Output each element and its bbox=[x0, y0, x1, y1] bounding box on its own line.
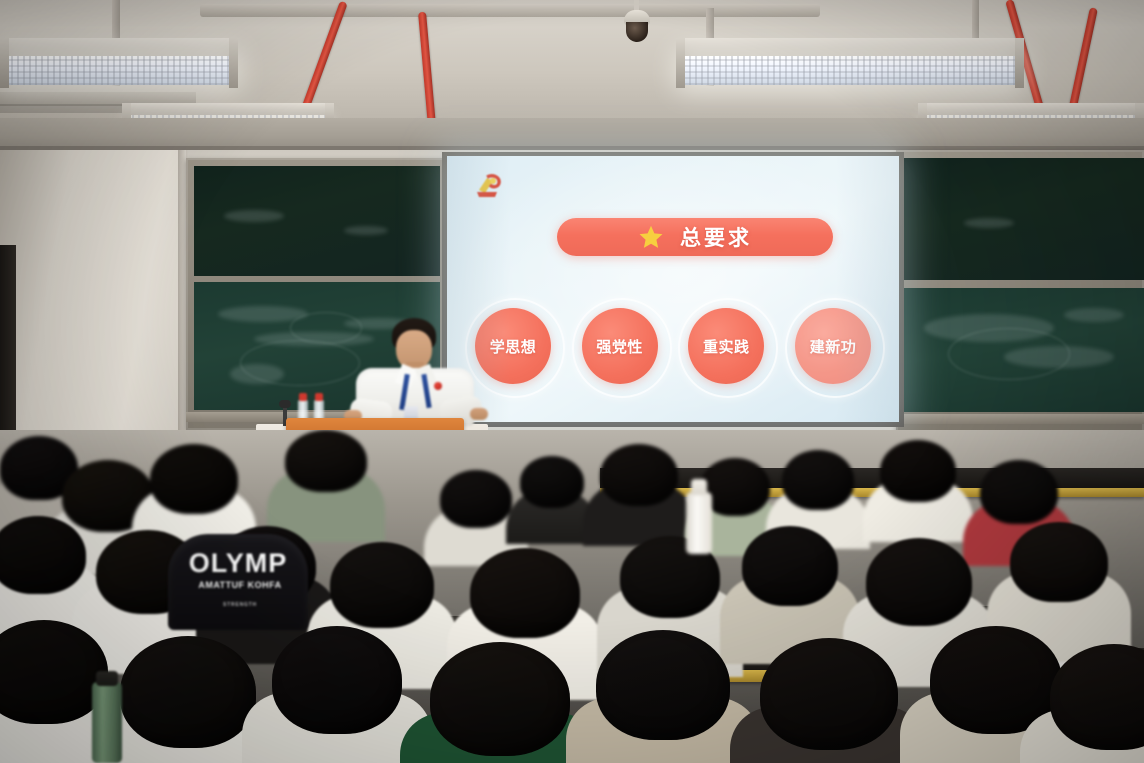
student-head bbox=[150, 444, 238, 514]
audience-student bbox=[596, 630, 730, 740]
green-water-bottle bbox=[92, 682, 122, 763]
audience-student bbox=[742, 526, 838, 606]
student-head bbox=[0, 516, 86, 594]
audience-student bbox=[980, 460, 1058, 524]
audience-student bbox=[272, 626, 402, 734]
audience-student bbox=[1010, 522, 1108, 602]
audience-student bbox=[866, 538, 972, 626]
desk-row-back-dark bbox=[600, 468, 1144, 490]
audience-student bbox=[600, 444, 678, 506]
blackboard-right-upper bbox=[904, 158, 1144, 280]
ceiling-light-3 bbox=[676, 38, 1024, 88]
doorway-edge bbox=[0, 245, 16, 445]
student-head bbox=[866, 538, 972, 626]
audience-student bbox=[880, 440, 956, 502]
student-head bbox=[742, 526, 838, 606]
white-thermos-bottle bbox=[686, 492, 712, 554]
student-head bbox=[1010, 522, 1108, 602]
audience-student bbox=[120, 636, 256, 748]
student-head bbox=[596, 630, 730, 740]
blackboard-right-lower bbox=[904, 288, 1144, 412]
audience-student bbox=[0, 516, 86, 594]
audience-student bbox=[470, 548, 580, 638]
audience-student bbox=[1050, 644, 1144, 750]
student-head bbox=[600, 444, 678, 506]
podium-microphone-head bbox=[279, 400, 291, 408]
student-head bbox=[285, 430, 367, 492]
blackboard-left-upper bbox=[194, 166, 440, 276]
presenter-party-pin bbox=[434, 382, 442, 390]
audience-student bbox=[760, 638, 898, 750]
student-head bbox=[782, 450, 854, 510]
audience-student bbox=[330, 542, 434, 628]
audience-student bbox=[285, 430, 367, 492]
student-head bbox=[120, 636, 256, 748]
student-head bbox=[430, 642, 570, 756]
student-head bbox=[760, 638, 898, 750]
blackboard-right-ledge bbox=[896, 414, 1144, 424]
student-head bbox=[980, 460, 1058, 524]
student-head bbox=[272, 626, 402, 734]
projection-screen[interactable]: 总要求 学思想强党性重实践建新功 bbox=[447, 156, 899, 422]
audience-student bbox=[440, 470, 512, 528]
ceiling-conduit-main bbox=[200, 4, 820, 17]
olymp-hoodie: OLYMP AMATTUF KOHFA STRENGTH bbox=[168, 534, 308, 630]
lecture-hall-photo: 总要求 学思想强党性重实践建新功 bbox=[0, 0, 1144, 763]
presenter-hand-right bbox=[470, 408, 488, 420]
audience-student bbox=[150, 444, 238, 514]
audience-student bbox=[430, 642, 570, 756]
ceiling-light-1 bbox=[0, 38, 238, 88]
student-head bbox=[520, 456, 584, 508]
hoodie-text-sub: AMATTUF KOHFA bbox=[190, 580, 290, 590]
security-camera bbox=[624, 10, 650, 26]
audience-student bbox=[782, 450, 854, 510]
hoodie-text-main: OLYMP bbox=[168, 548, 308, 579]
hoodie-text-small: STRENGTH bbox=[200, 602, 280, 608]
audience-student bbox=[520, 456, 584, 508]
student-head bbox=[440, 470, 512, 528]
student-head bbox=[470, 548, 580, 638]
screen-vignette bbox=[447, 156, 899, 422]
student-head bbox=[880, 440, 956, 502]
student-head bbox=[330, 542, 434, 628]
student-head bbox=[1050, 644, 1144, 750]
audience-area: OLYMP AMATTUF KOHFA STRENGTH bbox=[0, 430, 1144, 763]
